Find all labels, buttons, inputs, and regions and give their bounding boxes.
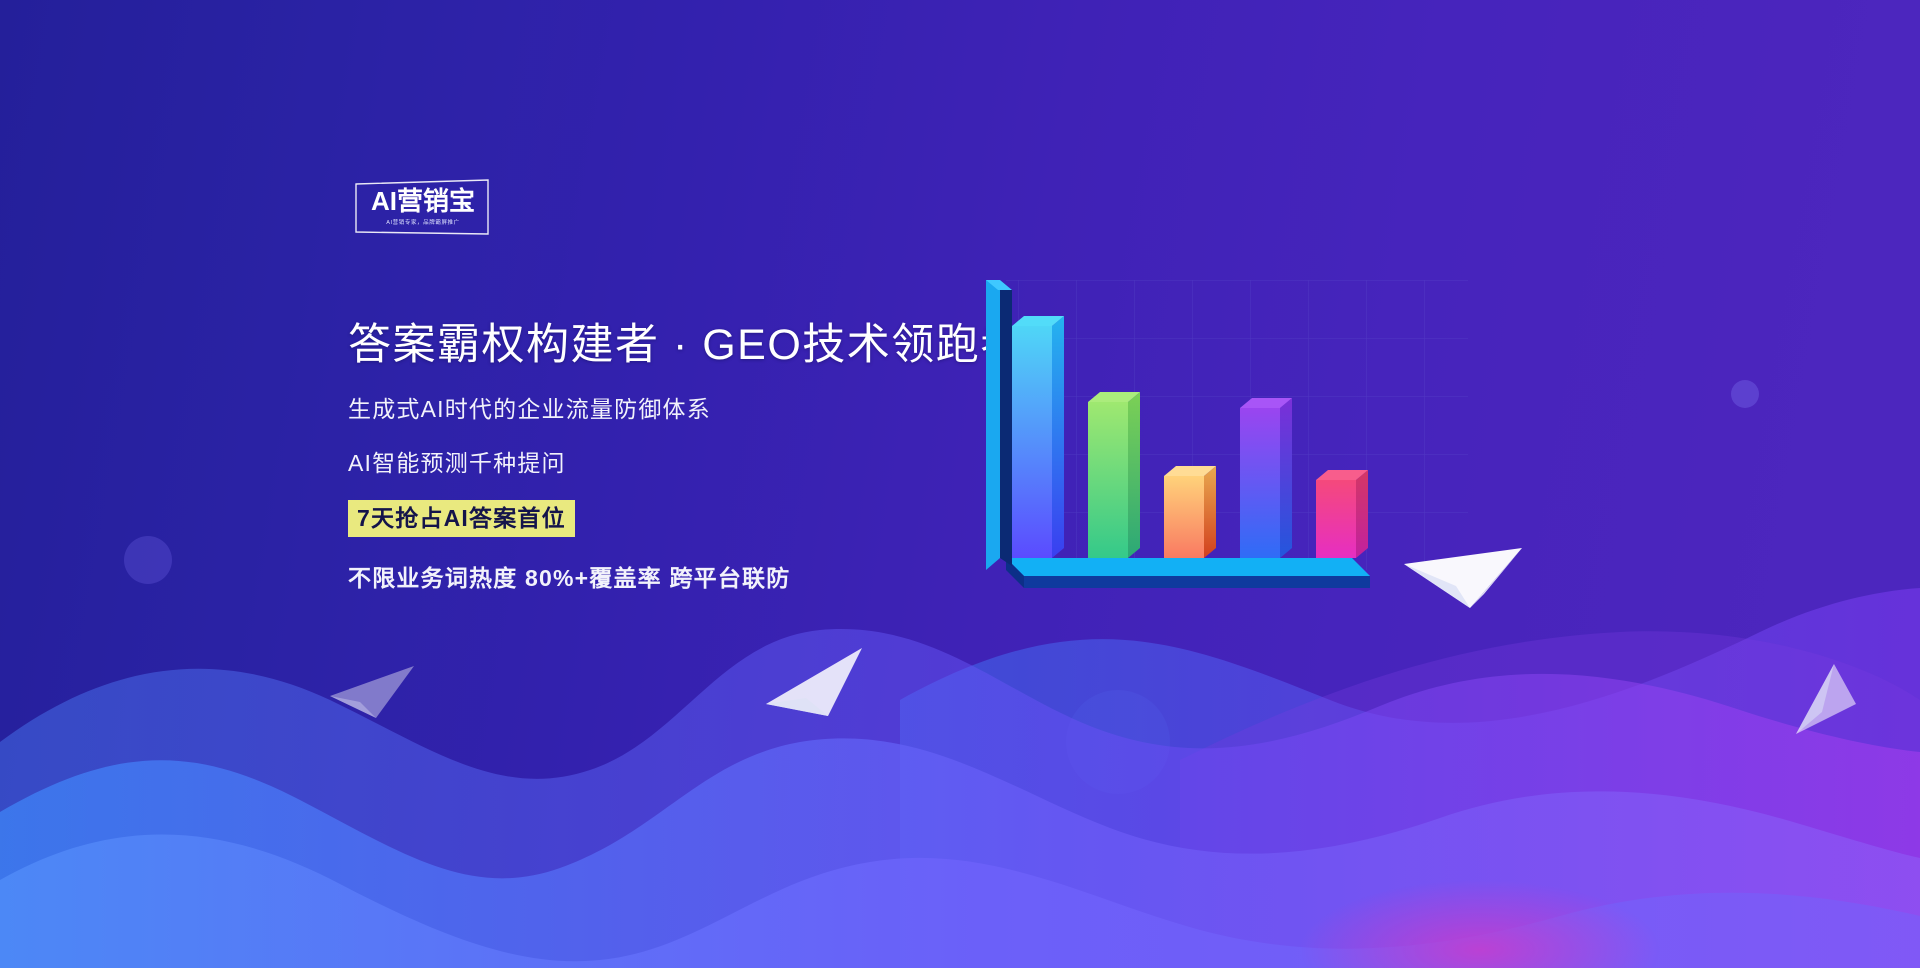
- chart-bar-3: [1164, 466, 1216, 558]
- chart-bar-1: [1012, 316, 1064, 558]
- bar-chart: [960, 280, 1480, 680]
- chart-y-axis: [986, 280, 1012, 570]
- chart-base-platform: [1006, 558, 1370, 588]
- chart-bar-5: [1316, 470, 1368, 558]
- brand-logo[interactable]: AI营销宝 AI营销专家，品牌霸屏推广: [352, 178, 492, 238]
- chart-bar-4: [1240, 398, 1292, 558]
- hero-highlight-badge: 7天抢占AI答案首位: [348, 500, 575, 537]
- logo-tagline: AI营销专家，品牌霸屏推广: [360, 218, 486, 226]
- paper-plane-far-right: [1778, 660, 1864, 744]
- logo-wordmark: AI营销宝: [362, 186, 484, 216]
- paper-plane-right-large: [1398, 512, 1528, 617]
- paper-plane-center: [762, 642, 872, 728]
- chart-bar-2: [1088, 392, 1140, 558]
- hero-banner: AI营销宝 AI营销专家，品牌霸屏推广 答案霸权构建者 · GEO技术领跑者 生…: [0, 0, 1920, 968]
- paper-plane-left: [326, 652, 422, 724]
